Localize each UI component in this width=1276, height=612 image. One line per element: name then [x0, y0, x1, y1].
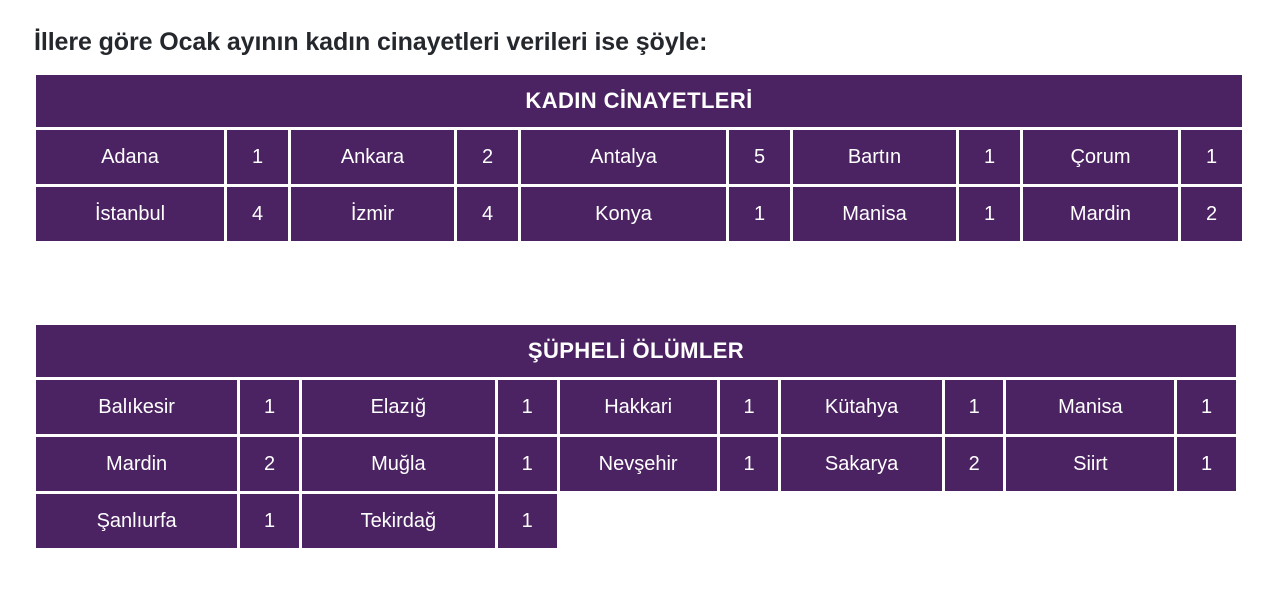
count-cell: 1 [498, 380, 557, 434]
province-cell: Muğla [302, 437, 495, 491]
count-cell: 1 [240, 380, 299, 434]
count-cell: 4 [457, 187, 518, 241]
table-title-kadin-cinayetleri: KADIN CİNAYETLERİ [36, 75, 1242, 127]
table-row: İstanbul 4 İzmir 4 Konya 1 Manisa 1 Mard… [36, 187, 1242, 241]
table-row: Şanlıurfa 1 Tekirdağ 1 [36, 494, 1236, 548]
province-cell: Ankara [291, 130, 454, 184]
province-cell: Kütahya [781, 380, 941, 434]
province-cell: Nevşehir [560, 437, 717, 491]
table-kadin-body: KADIN CİNAYETLERİ Adana 1 Ankara 2 Antal… [36, 75, 1242, 241]
count-cell: 1 [1177, 380, 1236, 434]
table-row: Balıkesir 1 Elazığ 1 Hakkari 1 Kütahya 1… [36, 380, 1236, 434]
count-cell: 1 [945, 380, 1004, 434]
province-cell: Sakarya [781, 437, 941, 491]
count-cell: 1 [729, 187, 790, 241]
count-cell: 1 [1177, 437, 1236, 491]
count-cell: 1 [720, 437, 779, 491]
count-cell: 1 [959, 130, 1020, 184]
province-cell: Hakkari [560, 380, 717, 434]
page-root: İllere göre Ocak ayının kadın cinayetler… [0, 0, 1276, 612]
province-cell: Şanlıurfa [36, 494, 237, 548]
province-cell: İstanbul [36, 187, 224, 241]
table-row: Mardin 2 Muğla 1 Nevşehir 1 Sakarya 2 Si… [36, 437, 1236, 491]
province-cell: Siirt [1006, 437, 1174, 491]
province-cell: Manisa [793, 187, 956, 241]
province-cell: Adana [36, 130, 224, 184]
count-cell: 1 [720, 380, 779, 434]
table-row: Adana 1 Ankara 2 Antalya 5 Bartın 1 Çoru… [36, 130, 1242, 184]
province-cell: Tekirdağ [302, 494, 495, 548]
count-cell: 2 [240, 437, 299, 491]
province-cell: Mardin [1023, 187, 1178, 241]
province-cell: Konya [521, 187, 726, 241]
table-kadin-cinayetleri: KADIN CİNAYETLERİ Adana 1 Ankara 2 Antal… [33, 72, 1245, 244]
count-cell: 2 [1181, 187, 1242, 241]
province-cell: Antalya [521, 130, 726, 184]
count-cell: 1 [959, 187, 1020, 241]
province-cell: Bartın [793, 130, 956, 184]
count-cell: 2 [457, 130, 518, 184]
province-cell: Balıkesir [36, 380, 237, 434]
count-cell: 5 [729, 130, 790, 184]
province-cell: İzmir [291, 187, 454, 241]
count-cell: 1 [227, 130, 288, 184]
province-cell: Elazığ [302, 380, 495, 434]
province-cell: Çorum [1023, 130, 1178, 184]
count-cell: 2 [945, 437, 1004, 491]
province-cell: Mardin [36, 437, 237, 491]
count-cell: 1 [1181, 130, 1242, 184]
count-cell: 1 [498, 494, 557, 548]
count-cell: 1 [498, 437, 557, 491]
table-header-row: KADIN CİNAYETLERİ [36, 75, 1242, 127]
table-supheli-body: ŞÜPHELİ ÖLÜMLER Balıkesir 1 Elazığ 1 Hak… [36, 325, 1236, 548]
table-supheli-olumler: ŞÜPHELİ ÖLÜMLER Balıkesir 1 Elazığ 1 Hak… [33, 322, 1239, 551]
count-cell: 1 [240, 494, 299, 548]
count-cell: 4 [227, 187, 288, 241]
table-header-row: ŞÜPHELİ ÖLÜMLER [36, 325, 1236, 377]
page-title: İllere göre Ocak ayının kadın cinayetler… [34, 27, 707, 57]
province-cell: Manisa [1006, 380, 1174, 434]
table-title-supheli-olumler: ŞÜPHELİ ÖLÜMLER [36, 325, 1236, 377]
empty-cell [560, 494, 1237, 548]
